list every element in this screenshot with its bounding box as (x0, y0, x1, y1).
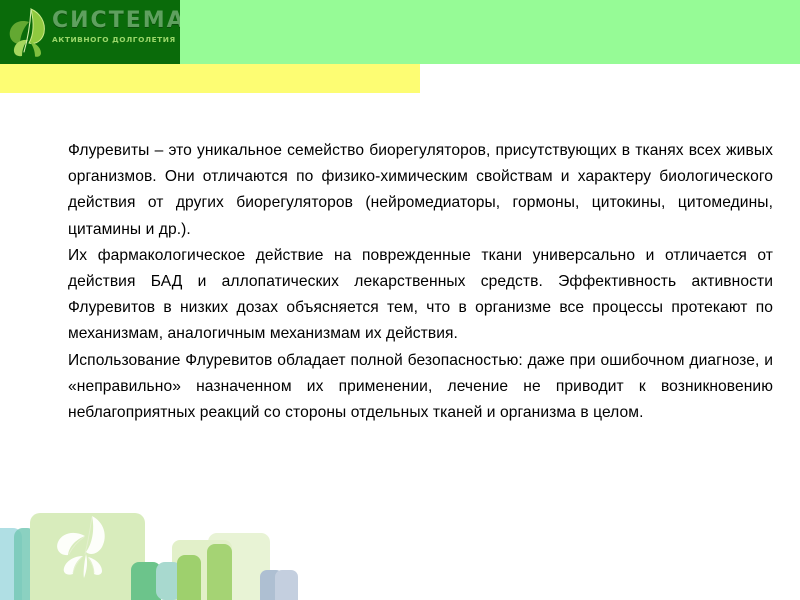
deco-panel-large (30, 513, 145, 600)
paragraph-3: Использование Флуревитов обладает полной… (68, 348, 773, 427)
logo-subtitle: АКТИВНОГО ДОЛГОЛЕТИЯ (52, 35, 180, 45)
leaf-icon (7, 6, 53, 58)
deco-block-grey-1 (260, 570, 283, 600)
paragraph-1: Флуревиты – это уникальное семейство био… (68, 138, 773, 243)
deco-panel-right (208, 533, 270, 600)
logo: СИСТЕМА АКТИВНОГО ДОЛГОЛЕТИЯ (0, 0, 180, 64)
paragraph-2: Их фармакологическое действие на поврежд… (68, 243, 773, 348)
leaf-emblem-icon (52, 514, 120, 582)
slide: СИСТЕМА АКТИВНОГО ДОЛГОЛЕТИЯ Флуревиты –… (0, 0, 800, 600)
logo-title: СИСТЕМА (52, 9, 180, 33)
bottom-decoration (0, 495, 800, 600)
deco-panel-middle (172, 540, 232, 600)
deco-block-green-3 (207, 544, 232, 600)
body-text: Флуревиты – это уникальное семейство био… (68, 138, 773, 426)
logo-text: СИСТЕМА АКТИВНОГО ДОЛГОЛЕТИЯ (52, 9, 180, 45)
header-yellow-band (0, 64, 420, 93)
deco-block-grey-2 (275, 570, 298, 600)
deco-block-teal-left-2 (14, 528, 36, 600)
deco-block-green-1 (131, 562, 161, 600)
deco-block-teal-2 (156, 562, 182, 600)
deco-block-green-2 (177, 555, 201, 600)
deco-block-teal-left (0, 528, 22, 600)
